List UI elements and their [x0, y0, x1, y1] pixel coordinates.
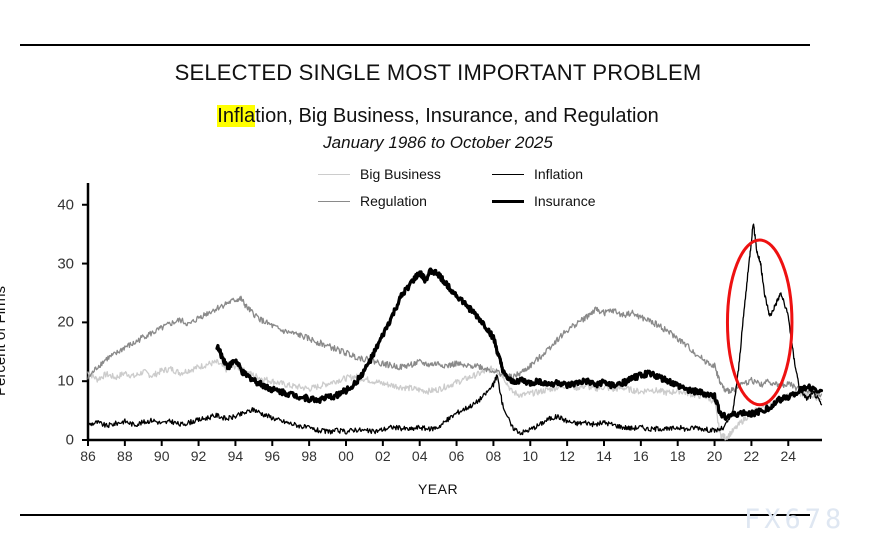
top-divider-rule: [20, 44, 810, 46]
x-tick-label: 98: [289, 448, 329, 464]
x-tick-label: 24: [768, 448, 808, 464]
x-tick-label: 00: [326, 448, 366, 464]
legend-item-inflation[interactable]: Inflation: [492, 166, 583, 182]
x-tick-label: 10: [510, 448, 550, 464]
legend-item-regulation[interactable]: Regulation: [318, 193, 427, 209]
legend-label: Inflation: [534, 166, 583, 182]
page-title: SELECTED SINGLE MOST IMPORTANT PROBLEM: [0, 60, 876, 86]
legend-label: Big Business: [360, 166, 441, 182]
x-tick-label: 12: [547, 448, 587, 464]
y-axis-label: Percent of Firms: [0, 286, 9, 396]
x-tick-label: 14: [584, 448, 624, 464]
x-tick-label: 08: [473, 448, 513, 464]
subtitle-highlight: Infla: [217, 105, 255, 127]
y-tick-label: 20: [34, 314, 74, 331]
x-axis-label: YEAR: [0, 481, 876, 497]
page-subtitle: Inflation, Big Business, Insurance, and …: [0, 105, 876, 128]
x-tick-label: 94: [215, 448, 255, 464]
legend-label: Insurance: [534, 193, 595, 209]
legend-item-insurance[interactable]: Insurance: [492, 193, 595, 209]
y-tick-label: 0: [34, 432, 74, 449]
bottom-divider-rule: [20, 514, 810, 516]
x-tick-label: 92: [179, 448, 219, 464]
y-tick-label: 10: [34, 373, 74, 390]
y-tick-label: 30: [34, 255, 74, 272]
x-tick-label: 86: [68, 448, 108, 464]
subtitle-rest: tion, Big Business, Insurance, and Regul…: [255, 105, 659, 127]
x-tick-label: 88: [105, 448, 145, 464]
legend-swatch: [492, 200, 524, 203]
series-line-big-business: [88, 359, 821, 440]
x-tick-label: 16: [621, 448, 661, 464]
x-tick-label: 96: [252, 448, 292, 464]
legend-swatch: [318, 201, 350, 202]
x-tick-label: 06: [437, 448, 477, 464]
date-range-label: January 1986 to October 2025: [0, 133, 876, 153]
line-chart: Percent of Firms YEAR 010203040 86889092…: [0, 160, 876, 505]
legend-item-big-business[interactable]: Big Business: [318, 166, 441, 182]
chart-page: SELECTED SINGLE MOST IMPORTANT PROBLEM I…: [0, 0, 876, 556]
x-tick-label: 02: [363, 448, 403, 464]
x-tick-label: 04: [400, 448, 440, 464]
chart-legend: Big BusinessInflationRegulationInsurance: [318, 166, 618, 218]
legend-swatch: [318, 174, 350, 175]
x-tick-label: 90: [142, 448, 182, 464]
x-tick-label: 18: [658, 448, 698, 464]
legend-swatch: [492, 174, 524, 175]
y-tick-label: 40: [34, 196, 74, 213]
x-tick-label: 20: [695, 448, 735, 464]
legend-label: Regulation: [360, 193, 427, 209]
watermark-label: FX678: [744, 504, 845, 535]
x-tick-label: 22: [731, 448, 771, 464]
inflation-spike-highlight: [727, 240, 791, 405]
